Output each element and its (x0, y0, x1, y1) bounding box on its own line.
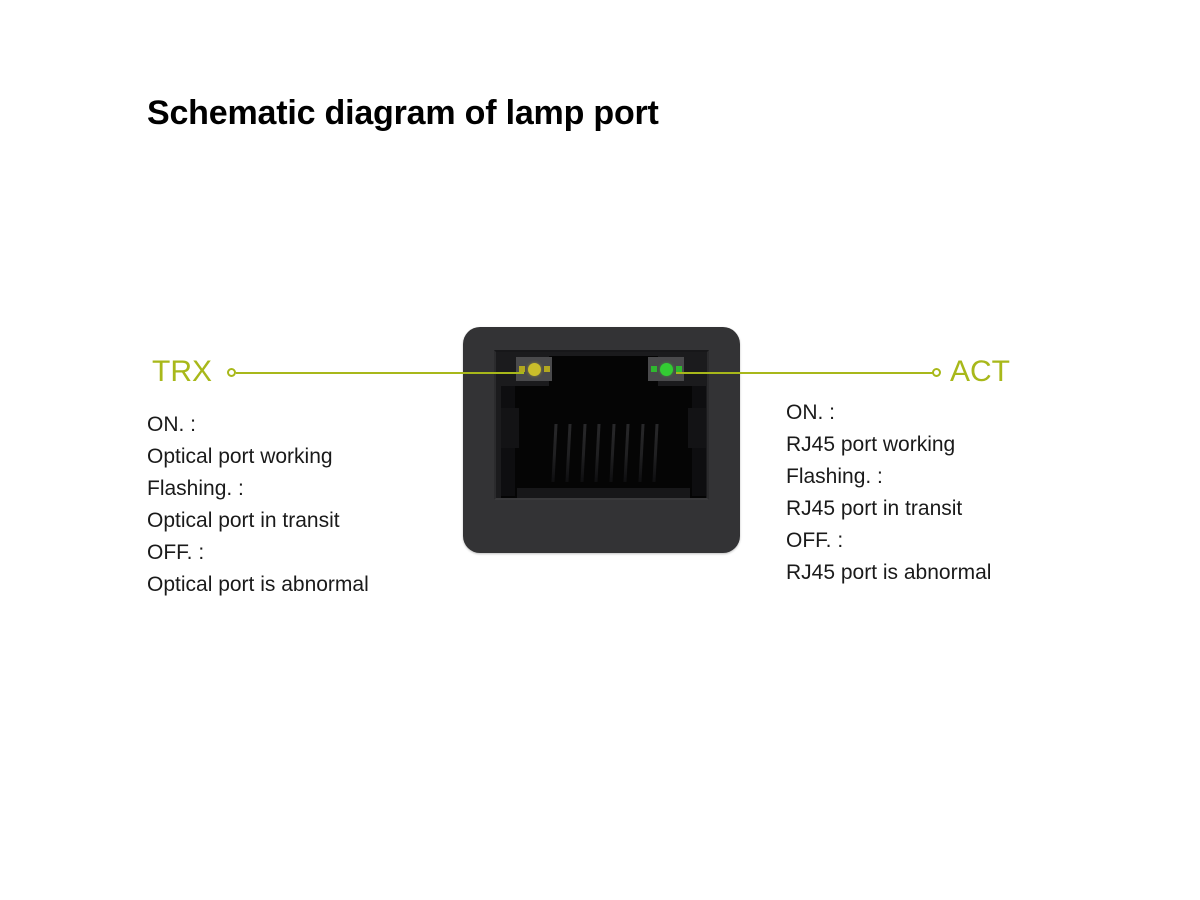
cavity-step-right (688, 408, 706, 448)
contact-pin (624, 424, 630, 482)
leader-line-act (676, 372, 935, 374)
callout-line: RJ45 port is abnormal (786, 557, 991, 589)
callout-description-trx: ON. : Optical port working Flashing. : O… (147, 409, 369, 601)
led-indicator-trx (516, 357, 552, 381)
leader-line-trx (236, 372, 524, 374)
rj45-port-illustration (463, 327, 740, 553)
callout-description-act: ON. : RJ45 port working Flashing. : RJ45… (786, 397, 991, 589)
leader-dot-trx (227, 368, 236, 377)
contact-pin (580, 424, 586, 482)
leader-dot-act (932, 368, 941, 377)
contact-pin (566, 424, 572, 482)
callout-line: RJ45 port in transit (786, 493, 991, 525)
callout-label-act: ACT (950, 357, 1010, 387)
callout-line: RJ45 port working (786, 429, 991, 461)
callout-line: Flashing. : (147, 473, 369, 505)
page-title: Schematic diagram of lamp port (147, 94, 659, 133)
callout-line: Optical port working (147, 441, 369, 473)
contact-pin (652, 424, 658, 482)
callout-line: ON. : (147, 409, 369, 441)
callout-line: Optical port in transit (147, 505, 369, 537)
contact-pin (551, 424, 557, 482)
rj45-contact-pins (553, 424, 657, 482)
callout-line: Optical port is abnormal (147, 569, 369, 601)
callout-line: OFF. : (147, 537, 369, 569)
contact-pin (595, 424, 601, 482)
callout-label-trx: TRX (152, 357, 212, 387)
callout-line: OFF. : (786, 525, 991, 557)
contact-pin (609, 424, 615, 482)
cavity-step-left (501, 408, 519, 448)
callout-line: Flashing. : (786, 461, 991, 493)
callout-line: ON. : (786, 397, 991, 429)
led-pad-icon (544, 366, 550, 372)
led-bulb-icon (528, 363, 541, 376)
contact-pin (638, 424, 644, 482)
diagram-canvas: Schematic diagram of lamp port (0, 0, 1200, 900)
cavity-floor (517, 488, 690, 498)
led-pad-icon (651, 366, 657, 372)
led-bulb-icon (660, 363, 673, 376)
led-indicator-act (648, 357, 684, 381)
